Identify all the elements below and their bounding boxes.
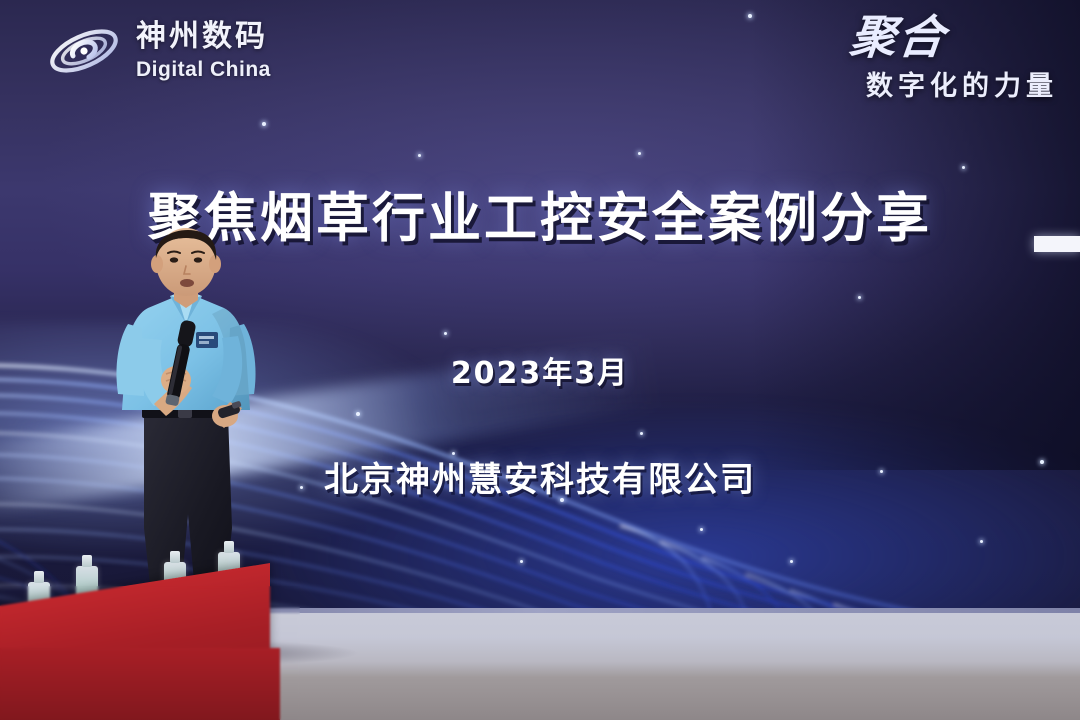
campaign-subtitle: 数字化的力量 — [850, 64, 1058, 103]
light-particle — [638, 152, 641, 155]
galaxy-swirl-icon — [46, 20, 122, 82]
brand-lockup: 神州数码 Digital China — [46, 20, 271, 82]
campaign-mark: 聚合 数字化的力量 — [850, 16, 1058, 103]
light-particle — [418, 154, 421, 157]
light-particle — [262, 122, 266, 126]
brand-text: 神州数码 Digital China — [136, 22, 271, 80]
screenshot-root: 神州数码 Digital China 聚合 数字化的力量 聚焦烟草行业工控安全案… — [0, 0, 1080, 720]
brand-name-en: Digital China — [136, 59, 271, 80]
light-particle — [858, 296, 861, 299]
light-particle — [962, 166, 965, 169]
speaker-figure — [92, 228, 282, 612]
light-particle — [748, 14, 752, 18]
campaign-calligraphy: 聚合 — [848, 16, 949, 60]
brand-name-cn: 神州数码 — [136, 22, 271, 52]
table-drape-lower — [0, 648, 280, 720]
screen-edge-bar — [1034, 236, 1080, 252]
